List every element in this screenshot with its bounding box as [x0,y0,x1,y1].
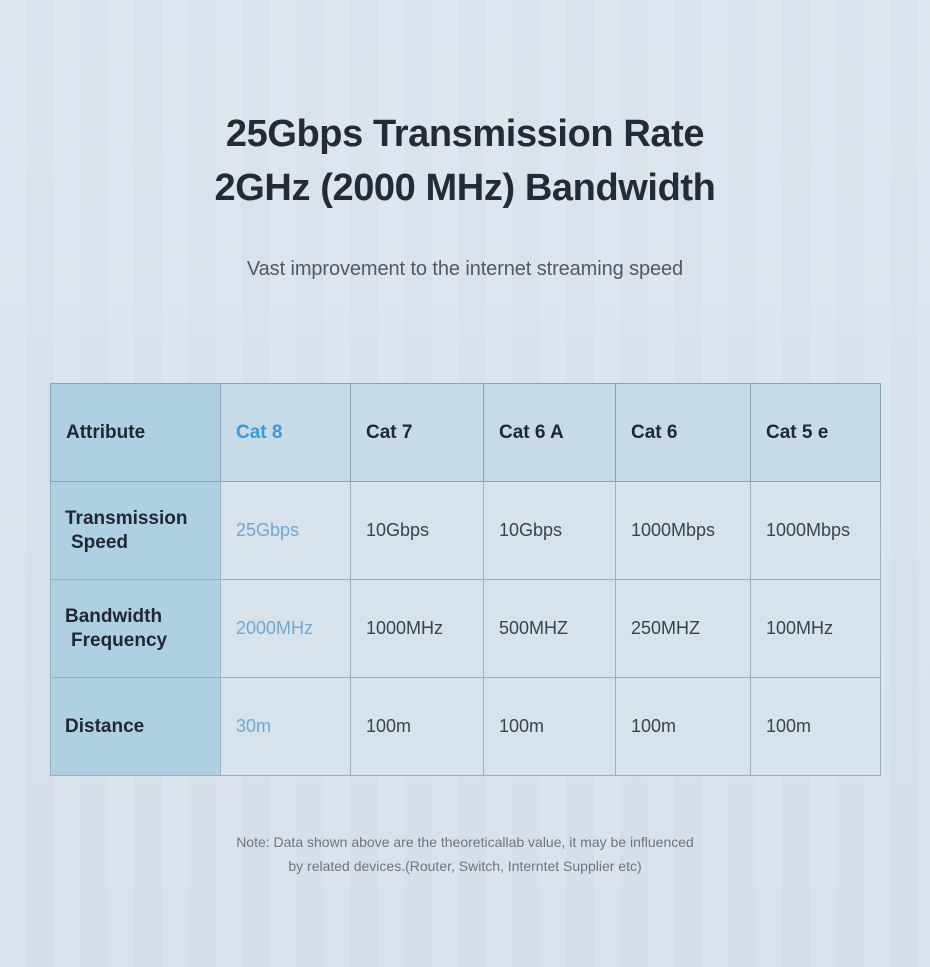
spec-comparison-table-wrapper: Attribute Cat 8 Cat 7 Cat 6 A Cat 6 Cat … [50,383,880,775]
page-subtitle: Vast improvement to the internet streami… [0,258,930,281]
row-label-bandwidth-frequency: Bandwidth Frequency [51,580,221,678]
cell-bandwidth-frequency-cat7: 1000MHz [351,580,484,678]
row-label-distance: Distance [51,678,221,776]
footnote-line-2: by related devices.(Router, Switch, Inte… [0,854,930,878]
table-row-bandwidth-frequency: Bandwidth Frequency 2000MHz 1000MHz 500M… [51,580,881,678]
cell-bandwidth-frequency-cat5e: 100MHz [751,580,881,678]
cell-distance-cat6a: 100m [484,678,616,776]
column-header-cat8: Cat 8 [221,384,351,482]
cell-transmission-speed-cat5e: 1000Mbps [751,482,881,580]
column-header-cat5e: Cat 5 e [751,384,881,482]
row-label-line-2: Speed [65,531,220,554]
row-label-transmission-speed: Transmission Speed [51,482,221,580]
column-header-cat6: Cat 6 [616,384,751,482]
column-header-attribute: Attribute [51,384,221,482]
table-row-distance: Distance 30m 100m 100m 100m 100m [51,678,881,776]
page-title-line-1: 25Gbps Transmission Rate [0,108,930,162]
spec-comparison-table: Attribute Cat 8 Cat 7 Cat 6 A Cat 6 Cat … [50,383,881,776]
row-label-line-2: Frequency [65,629,220,652]
table-row-transmission-speed: Transmission Speed 25Gbps 10Gbps 10Gbps … [51,482,881,580]
column-header-cat6a: Cat 6 A [484,384,616,482]
row-label-line-1: Transmission [65,508,188,529]
column-header-cat7: Cat 7 [351,384,484,482]
cell-transmission-speed-cat6a: 10Gbps [484,482,616,580]
cell-distance-cat6: 100m [616,678,751,776]
cell-bandwidth-frequency-cat6: 250MHZ [616,580,751,678]
row-label-line-1: Bandwidth [65,606,162,627]
cell-distance-cat5e: 100m [751,678,881,776]
cell-transmission-speed-cat6: 1000Mbps [616,482,751,580]
footnote-line-1: Note: Data shown above are the theoretic… [0,830,930,854]
cell-bandwidth-frequency-cat6a: 500MHZ [484,580,616,678]
page-title-line-2: 2GHz (2000 MHz) Bandwidth [0,162,930,216]
row-label-line-1: Distance [65,716,144,737]
table-footnote: Note: Data shown above are the theoretic… [0,830,930,878]
cell-transmission-speed-cat7: 10Gbps [351,482,484,580]
cell-transmission-speed-cat8: 25Gbps [221,482,351,580]
heading-block: 25Gbps Transmission Rate 2GHz (2000 MHz)… [0,108,930,216]
comparison-infographic: 25Gbps Transmission Rate 2GHz (2000 MHz)… [0,0,930,967]
cell-bandwidth-frequency-cat8: 2000MHz [221,580,351,678]
cell-distance-cat7: 100m [351,678,484,776]
cell-distance-cat8: 30m [221,678,351,776]
table-header-row: Attribute Cat 8 Cat 7 Cat 6 A Cat 6 Cat … [51,384,881,482]
